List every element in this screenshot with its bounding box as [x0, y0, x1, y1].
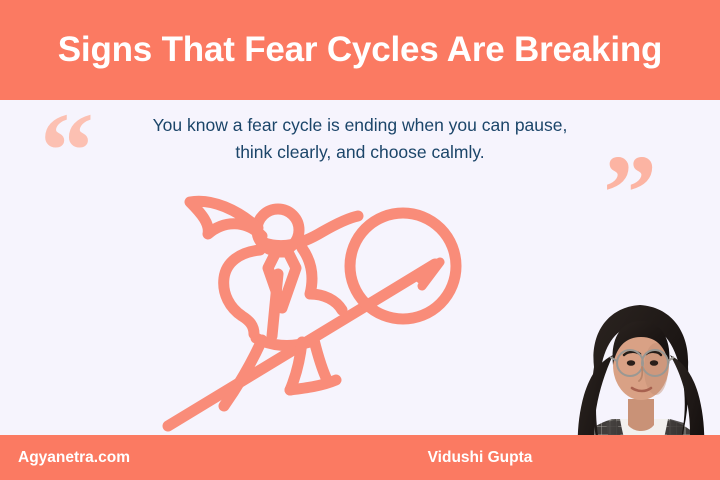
quote-text: You know a fear cycle is ending when you…: [132, 112, 588, 165]
open-quote-mark: “: [40, 98, 118, 176]
close-quote-mark: ”: [603, 140, 685, 222]
footer-author-label: Vidushi Gupta: [415, 435, 545, 480]
footer-site-label[interactable]: Agyanetra.com: [18, 435, 130, 480]
page-title: Signs That Fear Cycles Are Breaking: [0, 0, 720, 100]
sisyphus-icon: [150, 190, 500, 435]
quote-card: Signs That Fear Cycles Are Breaking “ Yo…: [0, 0, 720, 480]
sisyphus-illustration: [150, 190, 500, 435]
